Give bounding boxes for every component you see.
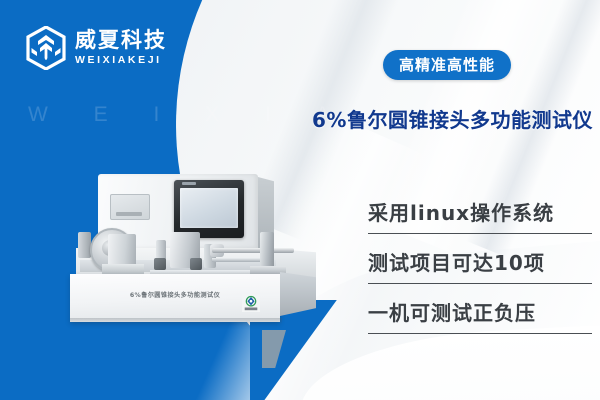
- brand-logo-text: 威夏科技 WEIXIAKEJI: [75, 30, 167, 66]
- feature-item-1: 采用linux操作系统: [368, 193, 592, 234]
- brand-name-en: WEIXIAKEJI: [75, 55, 167, 66]
- machine-drop-shadow: [70, 318, 282, 324]
- machine-knob-2: [190, 258, 202, 270]
- machine-left-block-foot: [102, 264, 144, 274]
- product-banner: W E I X I A K E 威夏科技 WEIXIAKEJI 高精准高性能 6…: [0, 0, 600, 400]
- feature-list: 采用linux操作系统 测试项目可达10项 一机可测试正负压: [368, 193, 592, 334]
- hexagon-shield-logo-icon: [26, 26, 66, 70]
- hmi-brand-strip: [182, 182, 196, 185]
- brand-name-cn: 威夏科技: [75, 30, 167, 51]
- machine-vent-plate: [110, 194, 150, 220]
- hmi-display-surface: [180, 188, 238, 228]
- machine-base-cabinet-side: [280, 272, 316, 316]
- machine-vent-slot: [116, 212, 142, 216]
- cfda-certification-badge-icon: [242, 294, 260, 312]
- machine-left-clamp: [78, 232, 91, 258]
- feature-item-3: 一机可测试正负压: [368, 293, 592, 334]
- brand-logo: 威夏科技 WEIXIAKEJI: [26, 26, 167, 70]
- machine-left-block: [108, 234, 136, 268]
- machine-shaft-rod: [212, 248, 294, 253]
- machine-knob-1: [154, 258, 166, 270]
- feature-item-2: 测试项目可达10项: [368, 243, 592, 284]
- page-title: 6%鲁尔圆锥接头多功能测试仪: [312, 104, 593, 133]
- feature-badge: 高精准高性能: [383, 50, 511, 80]
